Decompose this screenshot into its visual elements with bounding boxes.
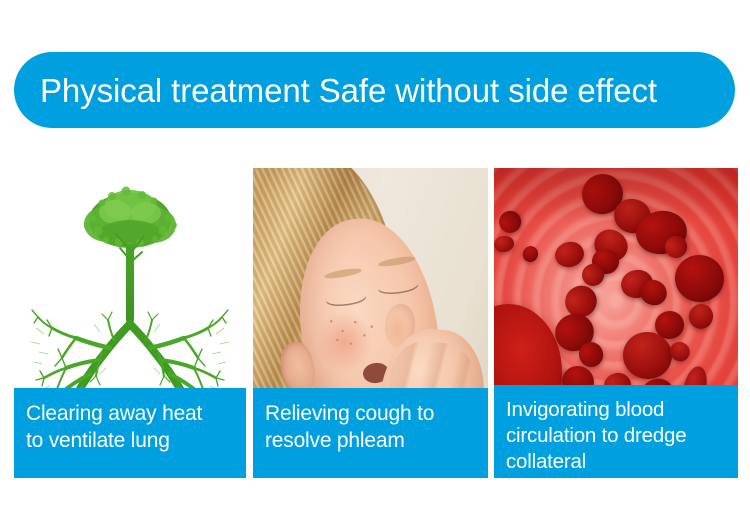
panel-3-caption-text: Invigorating blood circulation to dredge… — [506, 397, 738, 475]
feature-panels: Clearing away heat to ventilate lung R — [0, 168, 750, 478]
panel-1-caption: Clearing away heat to ventilate lung — [14, 388, 246, 478]
panel-2-caption: Relieving cough to resolve phleam — [253, 388, 488, 478]
panel-blood-cells[interactable]: Invigorating blood circulation to dredge… — [494, 168, 738, 478]
panel-coughing-child[interactable]: Relieving cough to resolve phleam — [253, 168, 488, 478]
panel-1-caption-text: Clearing away heat to ventilate lung — [26, 400, 236, 454]
panel-lung-tree[interactable]: Clearing away heat to ventilate lung — [14, 168, 246, 478]
child-freckles — [326, 314, 378, 351]
banner-title: Physical treatment Safe without side eff… — [40, 74, 657, 107]
panel-3-caption: Invigorating blood circulation to dredge… — [494, 385, 738, 478]
panel-2-caption-text: Relieving cough to resolve phleam — [265, 400, 478, 454]
header-banner: Physical treatment Safe without side eff… — [14, 52, 735, 128]
